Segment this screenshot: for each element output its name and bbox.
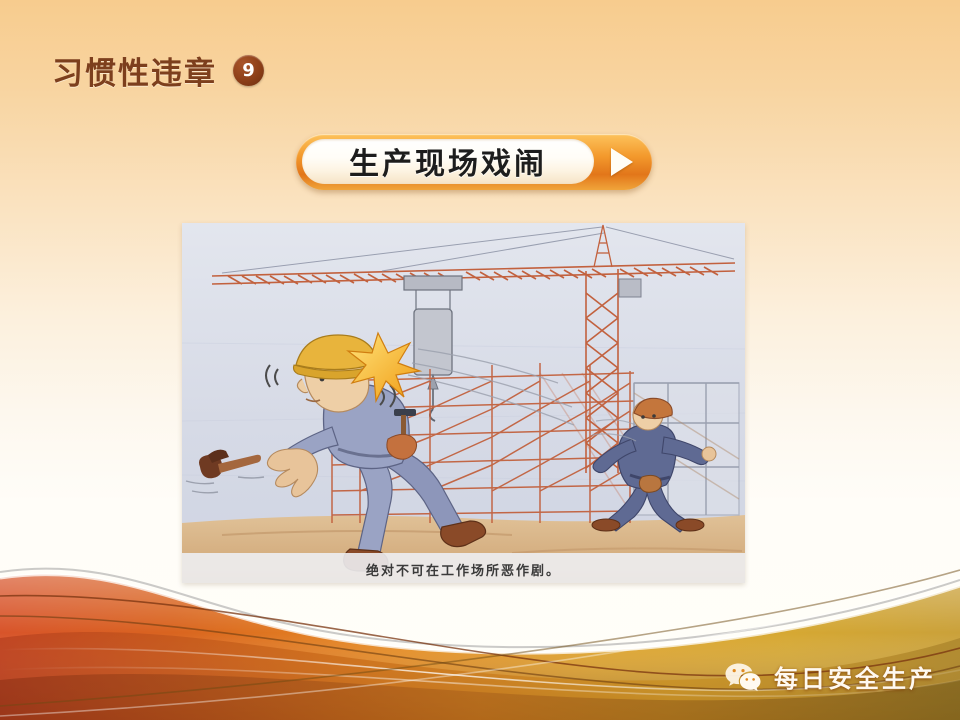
topic-banner-inner: 生产现场戏闹 [302,139,594,184]
wechat-icon [724,662,762,692]
play-triangle-icon [611,148,633,176]
topic-banner-label: 生产现场戏闹 [349,139,547,183]
footer-brand: 每日安全生产 [724,659,936,694]
page-title-text: 习惯性违章 [52,48,217,93]
status-badge: 9 [233,55,264,86]
wechat-icon-svg [724,662,762,692]
topic-banner[interactable]: 生产现场戏闹 [296,134,652,190]
next-button[interactable] [594,139,646,184]
page-title: 习惯性违章 9 [52,48,264,93]
brand-name: 每日安全生产 [774,659,936,694]
